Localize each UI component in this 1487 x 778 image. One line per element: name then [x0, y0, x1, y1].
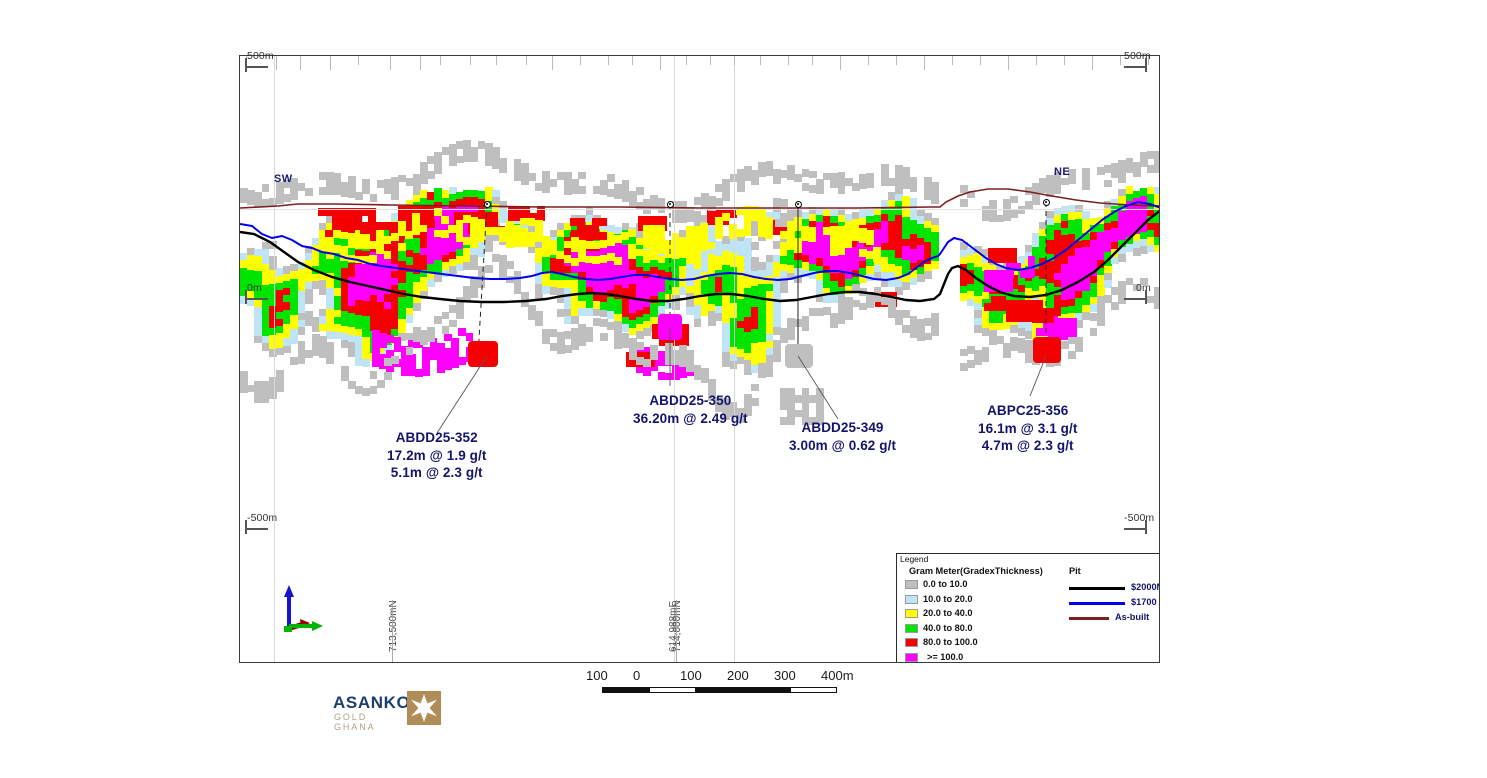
coord-label-713500mN: 713,500mN [388, 600, 399, 652]
cross-section-plot: Legend Gram Meter(GradexThickness) Pit 0… [239, 55, 1160, 663]
axis-tick-top [788, 56, 789, 65]
raster-cell [931, 196, 939, 204]
raster-cell [902, 167, 910, 175]
raster-cell [650, 352, 658, 360]
raster-cell [931, 328, 939, 336]
raster-cell [269, 391, 277, 399]
callout-title-349: ABDD25-349 [789, 419, 896, 437]
legend-class-label: 10.0 to 20.0 [923, 594, 973, 604]
tick-left-mid-v [245, 290, 247, 304]
grid-line-vertical [734, 56, 735, 662]
raster-cell [1097, 318, 1105, 326]
raster-cell [305, 188, 313, 196]
raster-cell [845, 312, 853, 320]
raster-cell [924, 271, 932, 279]
tick-right-mid-v [1145, 290, 1147, 304]
raster-cell [427, 220, 435, 228]
tick-right-top [1124, 66, 1146, 68]
raster-cell [607, 174, 615, 182]
callout-intercept-356-2: 4.7m @ 2.3 g/t [978, 437, 1077, 455]
raster-cell [420, 291, 428, 299]
raster-cell [787, 165, 795, 173]
raster-cell [269, 241, 277, 249]
raster-cell [434, 159, 442, 167]
raster-cell [910, 177, 918, 185]
raster-cell [967, 191, 975, 199]
direction-label-sw: SW [274, 173, 293, 185]
raster-cell [780, 199, 788, 207]
axis-tick-top [896, 56, 897, 65]
raster-cell [305, 296, 313, 304]
raster-cell [1010, 255, 1018, 263]
drillhole-collar-abpc25-356[interactable] [1043, 199, 1050, 206]
raster-cell [873, 254, 881, 262]
raster-cell [422, 368, 430, 376]
scale-bar-label: 0 [633, 668, 640, 683]
scale-bar-segment [602, 687, 649, 693]
raster-cell [1054, 187, 1062, 195]
callout-abdd25-349: ABDD25-349 3.00m @ 0.62 g/t [789, 419, 896, 454]
raster-cell [751, 242, 759, 250]
tick-left-top [246, 66, 268, 68]
drillhole-collar-abdd25-349[interactable] [795, 201, 802, 208]
logo-star-mark [407, 691, 441, 725]
raster-cell [413, 303, 421, 311]
raster-cell [427, 334, 435, 342]
legend-line-swatch [1069, 587, 1125, 590]
raster-cell [506, 261, 514, 269]
scale-bar-segment [790, 687, 837, 693]
raster-cell [1054, 308, 1062, 316]
tick-right-mid [1124, 298, 1146, 300]
axis-tick-top [1036, 56, 1037, 65]
legend-header-pit: Pit [1069, 566, 1081, 576]
axis-tick-top [526, 56, 527, 65]
raster-cell [586, 334, 594, 342]
scale-bar-segment [743, 687, 790, 693]
legend-pit-label: As-built [1115, 612, 1149, 622]
raster-cell [751, 398, 759, 406]
raster-cell [370, 194, 378, 202]
axis-tick-top [632, 56, 633, 65]
intercept-marker-abpc25-356 [1033, 337, 1061, 363]
raster-cell [737, 184, 745, 192]
raster-cell [931, 189, 939, 197]
raster-cell [744, 228, 752, 236]
axis-tick-top [1092, 56, 1093, 70]
raster-cell [384, 372, 392, 380]
raster-cell [931, 261, 939, 269]
legend-color-swatch [905, 595, 918, 604]
callout-intercept-349-1: 3.00m @ 0.62 g/t [789, 437, 896, 455]
raster-cell [550, 179, 558, 187]
blue-up-arrow-icon [284, 585, 294, 628]
raster-cell [751, 178, 759, 186]
raster-cell [838, 186, 846, 194]
axis-tick-top [1064, 56, 1065, 65]
raster-cell [398, 243, 406, 251]
raster-cell [362, 186, 370, 194]
tick-left-mid [246, 298, 268, 300]
raster-cell [470, 290, 478, 298]
raster-cell [262, 184, 270, 192]
axis-label-left-minus500m: -500m [247, 512, 277, 524]
axis-tick-top [812, 56, 813, 65]
axis-label-right-minus500m: -500m [1124, 512, 1154, 524]
axis-tick-top [760, 56, 761, 65]
raster-cell [599, 218, 607, 226]
raster-cell [1154, 151, 1160, 159]
tick-left-top-v [245, 58, 247, 72]
raster-cell [722, 186, 730, 194]
axis-tick-top [358, 56, 359, 65]
axis-tick-top [686, 56, 687, 65]
scale-bar-segment [696, 687, 743, 693]
raster-cell [499, 165, 507, 173]
raster-cell [722, 213, 730, 221]
raster-cell [837, 247, 845, 255]
axis-tick-top [924, 56, 925, 70]
raster-cell [377, 380, 385, 388]
raster-cell [348, 183, 356, 191]
raster-cell [693, 247, 701, 255]
scale-bar-segment [649, 687, 696, 693]
raster-cell [816, 186, 824, 194]
tick-left-bot [246, 528, 268, 530]
figure-canvas: Legend Gram Meter(GradexThickness) Pit 0… [0, 0, 1487, 778]
axis-tick-top [840, 56, 841, 70]
axis-tick-top [390, 56, 391, 70]
raster-cell [715, 231, 723, 239]
tick-right-bot-v [1145, 520, 1147, 534]
raster-cell [1090, 328, 1098, 336]
legend-class-label: 0.0 to 10.0 [923, 579, 967, 589]
raster-cell [989, 200, 997, 208]
direction-label-ne: NE [1054, 166, 1070, 178]
raster-cell [420, 225, 428, 233]
legend-class-label: 40.0 to 80.0 [923, 623, 973, 633]
raster-cell [1118, 296, 1126, 304]
raster-cell [535, 319, 543, 327]
axis-tick-top [734, 56, 735, 65]
raster-cell [290, 192, 298, 200]
raster-cell [643, 359, 651, 367]
drillhole-collar-abdd25-350[interactable] [667, 201, 674, 208]
axis-tick-top [330, 56, 331, 70]
raster-cell [391, 356, 399, 364]
legend-color-swatch [905, 580, 918, 589]
axis-tick-top [1120, 56, 1121, 65]
legend-color-swatch [905, 624, 918, 633]
legend-line-swatch [1069, 602, 1125, 605]
legend-color-swatch [905, 653, 918, 662]
raster-cell [1032, 197, 1040, 205]
scale-bar-label: 400m [821, 668, 854, 683]
callout-intercept-350-1: 36.20m @ 2.49 g/t [633, 410, 748, 428]
legend-pit-label: $1700 Reserve Pit [1131, 597, 1160, 607]
legend-class-label: 20.0 to 40.0 [923, 608, 973, 618]
raster-cell [334, 173, 342, 181]
coord-label-614988mE: 614,988mE [668, 601, 679, 652]
raster-cell [528, 173, 536, 181]
raster-cell [636, 249, 644, 257]
raster-cell [1104, 180, 1112, 188]
raster-cell [636, 187, 644, 195]
raster-cell [1075, 345, 1083, 353]
axis-tick-top [660, 56, 661, 70]
raster-cell [542, 171, 550, 179]
raster-cell [1133, 169, 1141, 177]
raster-cell [341, 373, 349, 381]
axis-tick-top [710, 56, 711, 65]
legend-color-swatch [905, 638, 918, 647]
callout-abpc25-356: ABPC25-356 16.1m @ 3.1 g/t 4.7m @ 2.3 g/… [978, 402, 1077, 455]
callout-intercept-356-1: 16.1m @ 3.1 g/t [978, 420, 1077, 438]
axis-tick-top [608, 56, 609, 65]
raster-cell [521, 163, 529, 171]
raster-cell [998, 303, 1006, 311]
raster-cell [369, 255, 377, 263]
raster-cell [1154, 301, 1160, 309]
raster-cell [751, 384, 759, 392]
legend-pit-label: $2000MII Pitshell [1131, 582, 1160, 592]
raster-cell [694, 319, 702, 327]
raster-cell [1006, 284, 1014, 292]
coord-tick-1 [392, 600, 393, 662]
raster-cell [708, 242, 716, 250]
raster-cell [809, 171, 817, 179]
grid-line-vertical [274, 56, 275, 662]
raster-cell [614, 257, 622, 265]
axis-tick-top [868, 56, 869, 65]
raster-cell [982, 354, 990, 362]
raster-cell [406, 315, 414, 323]
axis-tick-top [496, 56, 497, 65]
raster-cell [1046, 315, 1054, 323]
callout-title-350: ABDD25-350 [633, 392, 748, 410]
raster-cell [326, 356, 334, 364]
callout-abdd25-350: ABDD25-350 36.20m @ 2.49 g/t [633, 392, 748, 427]
raster-cell [658, 198, 666, 206]
raster-cell [499, 158, 507, 166]
raster-cell [1010, 196, 1018, 204]
raster-cell [1082, 168, 1090, 176]
raster-cell [765, 232, 773, 240]
raster-cell [391, 192, 399, 200]
raster-cell [636, 342, 644, 350]
legend-line-swatch [1069, 617, 1109, 620]
raster-cell [866, 300, 874, 308]
callout-title-356: ABPC25-356 [978, 402, 1077, 420]
intercept-marker-abdd25-350 [658, 314, 682, 340]
raster-cell [600, 333, 608, 341]
raster-cell [478, 280, 486, 288]
axis-tick-top [952, 56, 953, 65]
raster-cell [960, 199, 968, 207]
raster-cell [931, 182, 939, 190]
raster-cell [628, 229, 636, 237]
raster-cell [276, 384, 284, 392]
axis-tick-top [420, 56, 421, 70]
axis-label-left-500m-top: 500m [247, 50, 274, 62]
scale-bar-label: 100 [680, 668, 702, 683]
raster-cell [599, 232, 607, 240]
raster-cell [441, 216, 449, 224]
raster-cell [470, 154, 478, 162]
raster-cell [492, 147, 500, 155]
raster-cell [466, 333, 474, 341]
axis-label-right-0m: 0m [1136, 282, 1151, 294]
intercept-marker-abdd25-352 [468, 341, 498, 367]
raster-cell [406, 347, 414, 355]
coord-tick-2 [676, 600, 677, 662]
legend-title: Legend [900, 554, 928, 564]
raster-cell [1082, 183, 1090, 191]
scale-bar-label: 100 [586, 668, 608, 683]
raster-cell [384, 251, 392, 259]
axis-tick-top [552, 56, 553, 70]
raster-cell [787, 333, 795, 341]
raster-cell [434, 166, 442, 174]
raster-cell [910, 184, 918, 192]
raster-cell [773, 354, 781, 362]
axis-tick-top [980, 56, 981, 65]
raster-cell [802, 324, 810, 332]
callout-abdd25-352: ABDD25-352 17.2m @ 1.9 g/t 5.1m @ 2.3 g/… [387, 429, 486, 482]
raster-cell [780, 285, 788, 293]
intercept-marker-abdd25-349 [785, 344, 813, 368]
axis-tick-top [300, 56, 301, 70]
drillhole-collar-abdd25-352[interactable] [484, 201, 491, 208]
raster-cell [766, 369, 774, 377]
raster-cell [578, 172, 586, 180]
raster-cell [1028, 270, 1036, 278]
axis-tick-top [470, 56, 471, 65]
raster-cell [1118, 254, 1126, 262]
grid-line-horizontal [240, 209, 1159, 210]
raster-cell [578, 186, 586, 194]
logo-company-name: ASANKO [333, 693, 410, 713]
raster-cell [866, 180, 874, 188]
axis-tick-top [276, 56, 277, 70]
legend-box: Legend Gram Meter(GradexThickness) Pit 0… [896, 553, 1160, 663]
legend-class-label: 80.0 to 100.0 [923, 637, 978, 647]
legend-class-label: >= 100.0 [927, 652, 963, 662]
raster-cell [766, 161, 774, 169]
axis-triad [276, 582, 332, 638]
raster-cell [881, 164, 889, 172]
triad-origin-block [284, 626, 292, 632]
raster-cell [722, 193, 730, 201]
raster-cell [622, 180, 630, 188]
raster-cell [370, 371, 378, 379]
raster-cell [362, 179, 370, 187]
scale-bar-label: 200 [727, 668, 749, 683]
raster-cell [1154, 245, 1160, 253]
raster-cell [391, 185, 399, 193]
raster-cell [794, 245, 802, 253]
raster-cell [348, 176, 356, 184]
logo-company-tagline: GOLD GHANA [334, 712, 376, 732]
raster-cell [1082, 175, 1090, 183]
raster-cell [694, 211, 702, 219]
legend-color-swatch [905, 609, 918, 618]
callout-title-352: ABDD25-352 [387, 429, 486, 447]
tick-left-bot-v [245, 520, 247, 534]
tick-right-bot [1124, 528, 1146, 530]
raster-cell [1154, 158, 1160, 166]
axis-label-right-500m-top: 500m [1124, 50, 1151, 62]
raster-cell [298, 327, 306, 335]
raster-cell [485, 244, 493, 252]
raster-cell [1118, 175, 1126, 183]
axis-tick-top [1008, 56, 1009, 70]
raster-cell [449, 320, 457, 328]
axis-label-left-0m: 0m [247, 282, 262, 294]
star-icon [411, 694, 437, 722]
axis-tick-top [580, 56, 581, 65]
grid-line-vertical [674, 56, 675, 662]
raster-cell [866, 173, 874, 181]
raster-cell [808, 234, 816, 242]
raster-cell [1154, 165, 1160, 173]
raster-cell [485, 265, 493, 273]
raster-cell [866, 237, 874, 245]
callout-intercept-352-1: 17.2m @ 1.9 g/t [387, 447, 486, 465]
raster-cell [283, 346, 291, 354]
callout-intercept-352-2: 5.1m @ 2.3 g/t [387, 464, 486, 482]
axis-tick-top [440, 56, 441, 65]
raster-cell [456, 311, 464, 319]
legend-header-grammeter: Gram Meter(GradexThickness) [909, 566, 1043, 576]
scale-bar-label: 300 [774, 668, 796, 683]
tick-right-top-v [1145, 58, 1147, 72]
